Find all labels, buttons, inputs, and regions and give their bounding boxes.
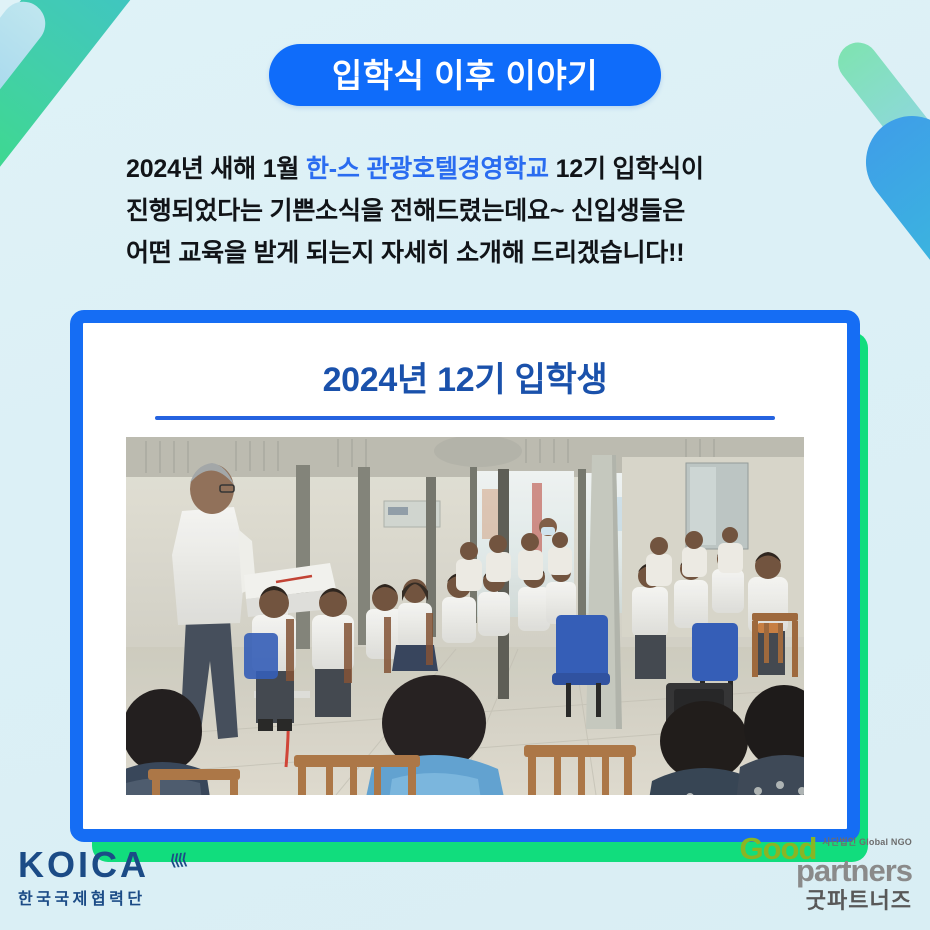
koica-logo: KOICA ⟨⟨⟨⟨ 한국국제협력단 xyxy=(18,847,149,908)
good-partners-tagline: 사단법인 Global NGO xyxy=(822,838,912,863)
koica-korean-name: 한국국제협력단 xyxy=(18,892,149,908)
card-divider xyxy=(155,416,775,420)
card-heading: 2024년 12기 입학생 xyxy=(83,363,847,397)
title-badge: 입학식 이후 이야기 xyxy=(269,44,661,106)
intro-line-1: 2024년 새해 1월 한-스 관광호텔경영학교 12기 입학식이 xyxy=(126,148,826,190)
good-partners-logo: Good 사단법인 Global NGO partners 굿파트너즈 xyxy=(739,834,912,912)
poster-root: 입학식 이후 이야기 2024년 새해 1월 한-스 관광호텔경영학교 12기 … xyxy=(0,0,930,930)
intro-line-1-prefix: 2024년 새해 1월 xyxy=(126,155,306,183)
intro-line-2: 진행되었다는 기쁜소식을 전해드렸는데요~ 신입생들은 xyxy=(126,190,826,232)
classroom-photo xyxy=(126,437,804,795)
koica-wordmark-text: KOICA xyxy=(18,844,149,885)
good-partners-korean-name: 굿파트너즈 xyxy=(739,890,912,912)
title-badge-label: 입학식 이후 이야기 xyxy=(332,59,598,92)
koica-wordmark: KOICA ⟨⟨⟨⟨ xyxy=(18,847,149,883)
photo-card: 2024년 12기 입학생 xyxy=(70,310,860,842)
koica-swoosh-icon: ⟨⟨⟨⟨ xyxy=(169,852,186,869)
intro-line-3: 어떤 교육을 받게 되는지 자세히 소개해 드리겠습니다!! xyxy=(126,232,826,274)
good-partners-good-text: Good xyxy=(739,834,816,863)
intro-school-name: 한-스 관광호텔경영학교 xyxy=(306,155,549,183)
intro-line-1-suffix: 12기 입학식이 xyxy=(549,155,704,183)
intro-paragraph: 2024년 새해 1월 한-스 관광호텔경영학교 12기 입학식이 진행되었다는… xyxy=(126,148,826,274)
